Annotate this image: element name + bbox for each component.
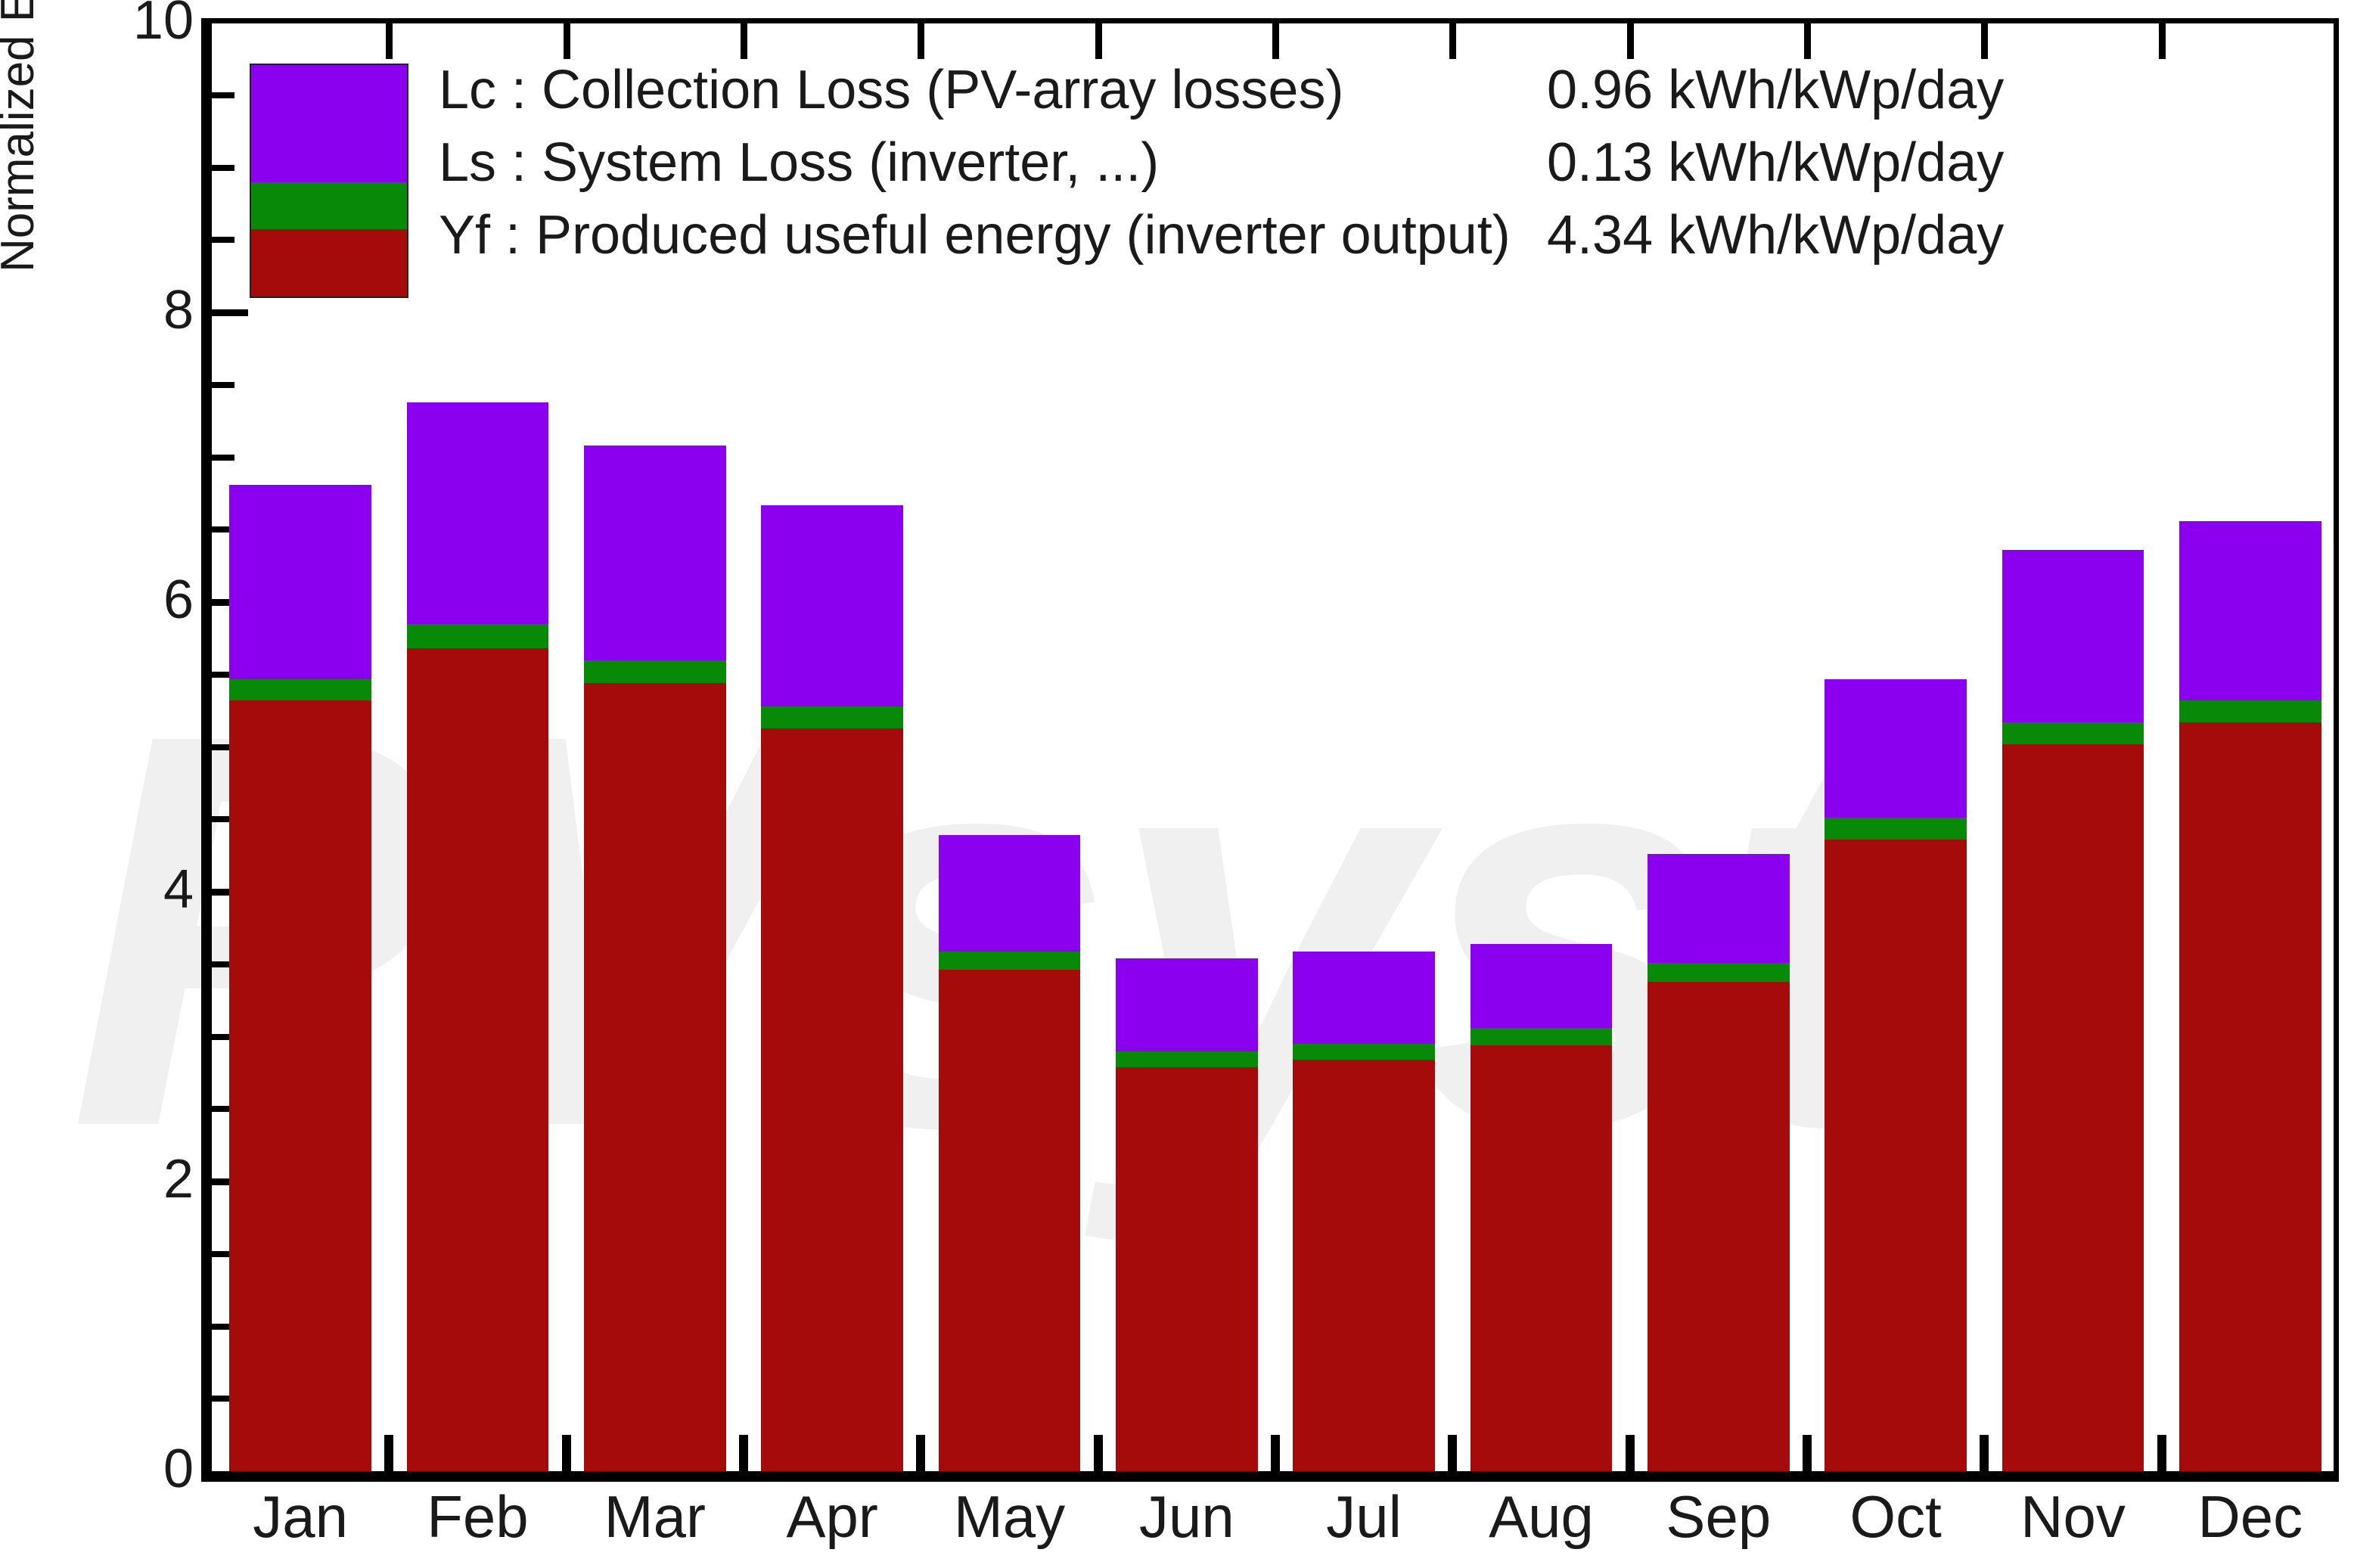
bar-segment-ls xyxy=(939,952,1080,970)
x-tick xyxy=(384,1435,393,1471)
bar-segment-lc xyxy=(1470,944,1612,1028)
bar-jan xyxy=(229,485,371,1471)
legend-value-lc: 0.96 kWh/kWp/day xyxy=(1547,59,2004,121)
bar-segment-yf xyxy=(1470,1045,1612,1471)
legend-row-yf: Yf : Produced useful energy (inverter ou… xyxy=(439,204,2179,277)
bar-segment-lc xyxy=(1116,958,1257,1051)
bar-segment-lc xyxy=(407,402,548,624)
bar-segment-ls xyxy=(1647,963,1789,982)
bar-oct xyxy=(1825,679,1966,1472)
x-tick xyxy=(1803,1435,1812,1471)
bar-segment-ls xyxy=(761,706,902,728)
bar-segment-yf xyxy=(2002,744,2144,1471)
y-tick-label: 2 xyxy=(103,1148,194,1210)
bar-feb xyxy=(407,402,548,1471)
yf-swatch xyxy=(251,229,407,297)
x-tick xyxy=(2157,1435,2166,1471)
bar-jun xyxy=(1116,958,1257,1471)
y-tick-label: 8 xyxy=(103,279,194,341)
y-tick-label: 0 xyxy=(103,1438,194,1500)
x-tick-label: Aug xyxy=(1452,1483,1629,1551)
bar-segment-yf xyxy=(407,648,548,1471)
bar-segment-ls xyxy=(1825,818,1966,840)
x-tick-label: Apr xyxy=(744,1483,921,1551)
bar-segment-lc xyxy=(2179,521,2321,700)
bar-segment-yf xyxy=(761,728,902,1471)
bar-nov xyxy=(2002,550,2144,1471)
ls-swatch xyxy=(251,182,407,229)
legend-row-lc: Lc : Collection Loss (PV-array losses) 0… xyxy=(439,59,2179,132)
legend-swatch-stack xyxy=(250,64,408,298)
x-tick xyxy=(739,1435,748,1471)
bar-apr xyxy=(761,505,902,1471)
bar-sep xyxy=(1647,854,1789,1471)
legend-row-ls: Ls : System Loss (inverter, ...) 0.13 kW… xyxy=(439,132,2179,204)
y-tick-label: 10 xyxy=(103,0,194,51)
bar-segment-ls xyxy=(2002,722,2144,744)
x-tick xyxy=(1448,1435,1457,1471)
bar-segment-lc xyxy=(939,835,1080,951)
x-tick-label: Sep xyxy=(1630,1483,1807,1551)
legend-label-ls: Ls : System Loss (inverter, ...) xyxy=(439,132,1159,194)
lc-swatch xyxy=(251,65,407,182)
bar-segment-lc xyxy=(761,505,902,706)
x-tick-label: Jan xyxy=(212,1483,389,1551)
y-axis-title: Normalized Energy [kWh/kWp/day] xyxy=(0,0,45,272)
bar-jul xyxy=(1293,952,1434,1471)
bar-segment-yf xyxy=(1293,1060,1434,1471)
bar-segment-yf xyxy=(1825,840,1966,1471)
bar-segment-lc xyxy=(229,485,371,679)
x-tick xyxy=(562,1435,571,1471)
bar-segment-yf xyxy=(584,683,725,1471)
bar-segment-lc xyxy=(2002,550,2144,722)
bar-may xyxy=(939,835,1080,1471)
x-tick-label: Feb xyxy=(389,1483,566,1551)
bar-segment-ls xyxy=(407,624,548,649)
x-tick-label: Jun xyxy=(1098,1483,1275,1551)
x-tick-label: Jul xyxy=(1275,1483,1452,1551)
bar-segment-ls xyxy=(1293,1044,1434,1060)
x-tick xyxy=(1626,1435,1635,1471)
y-axis-line xyxy=(201,18,212,1476)
bar-segment-lc xyxy=(584,446,725,660)
bar-segment-yf xyxy=(229,700,371,1471)
x-tick xyxy=(916,1435,925,1471)
legend-value-ls: 0.13 kWh/kWp/day xyxy=(1547,132,2004,194)
legend-label-yf: Yf : Produced useful energy (inverter ou… xyxy=(439,204,1511,266)
x-tick-label: Oct xyxy=(1807,1483,1984,1551)
bar-segment-yf xyxy=(1116,1067,1257,1471)
x-tick xyxy=(1094,1435,1103,1471)
bar-aug xyxy=(1470,944,1612,1471)
x-tick xyxy=(1980,1435,1989,1471)
y-tick-label: 4 xyxy=(103,859,194,921)
y-tick-label: 6 xyxy=(103,569,194,631)
x-tick-label: Dec xyxy=(2162,1483,2339,1551)
x-tick-label: Nov xyxy=(1984,1483,2161,1551)
bar-segment-ls xyxy=(229,679,371,701)
bar-segment-lc xyxy=(1647,854,1789,963)
bar-segment-lc xyxy=(1293,952,1434,1045)
bar-segment-yf xyxy=(2179,722,2321,1471)
legend-value-yf: 4.34 kWh/kWp/day xyxy=(1547,204,2004,266)
bar-segment-yf xyxy=(939,970,1080,1471)
legend-label-lc: Lc : Collection Loss (PV-array losses) xyxy=(439,59,1343,121)
bar-segment-yf xyxy=(1647,982,1789,1471)
bar-segment-ls xyxy=(1116,1051,1257,1067)
bar-segment-ls xyxy=(584,660,725,684)
bar-segment-lc xyxy=(1825,679,1966,818)
bar-dec xyxy=(2179,521,2321,1471)
bar-mar xyxy=(584,446,725,1471)
chart-root: PVsyst Normalized Energy [kWh/kWp/day] 0… xyxy=(0,0,2354,1568)
x-axis-line xyxy=(201,1471,2339,1482)
x-tick-label: Mar xyxy=(567,1483,744,1551)
x-tick xyxy=(1271,1435,1280,1471)
bar-segment-ls xyxy=(2179,700,2321,722)
x-tick-label: May xyxy=(921,1483,1098,1551)
bar-segment-ls xyxy=(1470,1028,1612,1045)
